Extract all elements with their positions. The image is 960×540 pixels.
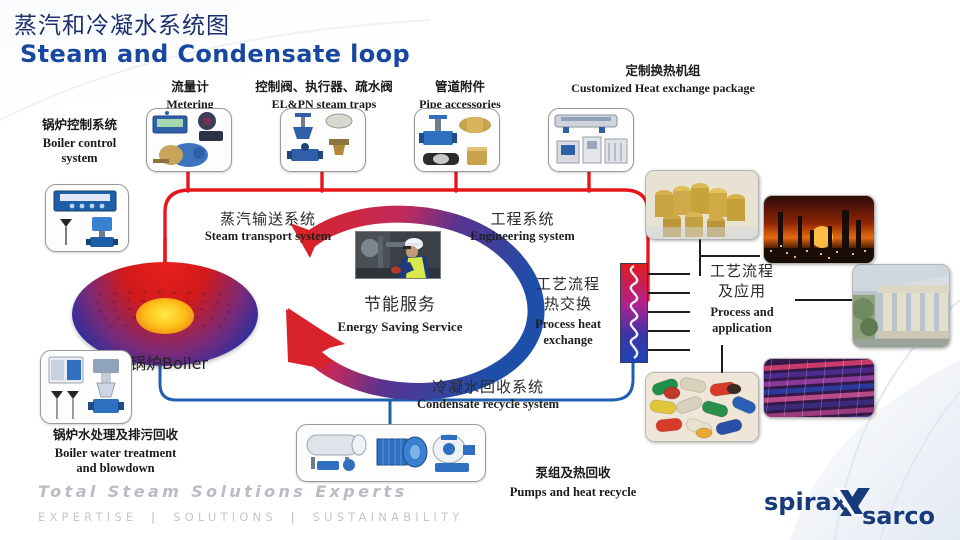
label-energy-saving-en: Energy Saving Service bbox=[310, 319, 490, 335]
label-pipe-accessories: 管道附件 Pipe accessories bbox=[400, 80, 520, 111]
label-process-heat-en1: Process heat bbox=[520, 317, 616, 332]
label-boiler-control-system: 锅炉控制系统 Boiler control system bbox=[22, 118, 137, 165]
institutional-building-photo bbox=[852, 264, 950, 348]
product-box-steam-traps[interactable] bbox=[280, 108, 366, 172]
label-boiler-water-en2: and blowdown bbox=[18, 461, 213, 476]
label-condensate-recycle-system: 冷凝水回收系统 Condensate recycle system bbox=[398, 378, 578, 413]
steam-trap-products-icon bbox=[281, 109, 365, 171]
footer-tagline: Total Steam Solutions Experts bbox=[38, 482, 408, 501]
product-box-boiler-control[interactable] bbox=[45, 184, 129, 252]
pipe-accessory-products-icon bbox=[415, 109, 499, 171]
engineer-at-work-photo bbox=[355, 231, 441, 279]
boiler-control-products-icon bbox=[46, 185, 128, 251]
metering-products-icon bbox=[147, 109, 231, 171]
footer-separator-1: | bbox=[145, 510, 165, 524]
label-engineering-system: 工程系统 Engineering system bbox=[440, 210, 605, 245]
footer-pillars: EXPERTISE | SOLUTIONS | SUSTAINABILITY bbox=[38, 510, 463, 524]
footer-separator-2: | bbox=[285, 510, 305, 524]
product-box-metering[interactable] bbox=[146, 108, 232, 172]
label-heat-exchange-package: 定制换热机组 Customized Heat exchange package bbox=[538, 64, 788, 95]
label-pipe-accessories-cn: 管道附件 bbox=[400, 80, 520, 95]
label-steam-transport-system: 蒸汽输送系统 Steam transport system bbox=[178, 210, 358, 245]
label-boiler-control-en2: system bbox=[22, 151, 137, 166]
label-boiler-water-treatment: 锅炉水处理及排污回收 Boiler water treatment and bl… bbox=[18, 428, 213, 475]
spirax-sarco-logo: spirax sarco bbox=[762, 486, 952, 534]
label-process-heat-cn2: 热交换 bbox=[520, 295, 616, 313]
label-metering-cn: 流量计 bbox=[148, 80, 232, 95]
label-boiler-water-en1: Boiler water treatment bbox=[18, 446, 213, 461]
label-boiler-control-en1: Boiler control bbox=[22, 136, 137, 151]
food-and-beverage-photo bbox=[645, 170, 759, 240]
label-pumps-cn: 泵组及热回收 bbox=[488, 466, 658, 481]
boiler-water-treatment-products-icon bbox=[41, 351, 131, 423]
label-steam-transport-cn: 蒸汽输送系统 bbox=[178, 210, 358, 228]
footer-pillar-solutions: SOLUTIONS bbox=[173, 510, 277, 524]
heat-exchanger-unit bbox=[620, 263, 648, 363]
product-box-boiler-water-treatment[interactable] bbox=[40, 350, 132, 424]
label-process-heat-en2: exchange bbox=[520, 333, 616, 348]
refinery-at-sunset-photo bbox=[763, 195, 875, 264]
label-process-app-cn1: 工艺流程 bbox=[690, 262, 794, 280]
label-process-app-en1: Process and bbox=[690, 305, 794, 320]
label-engineering-en: Engineering system bbox=[440, 229, 605, 244]
heat-exchange-package-products-icon bbox=[549, 109, 633, 171]
label-pumps-and-heat-recycle: 泵组及热回收 Pumps and heat recycle bbox=[488, 466, 658, 500]
label-engineering-cn: 工程系统 bbox=[440, 210, 605, 228]
label-heat-exchange-package-cn: 定制换热机组 bbox=[538, 64, 788, 79]
label-process-heat-cn1: 工艺流程 bbox=[520, 275, 616, 293]
logo-word-sarco: sarco bbox=[862, 502, 935, 530]
label-energy-saving-cn: 节能服务 bbox=[310, 295, 490, 316]
label-steam-traps-cn: 控制阀、执行器、疏水阀 bbox=[246, 80, 402, 95]
label-process-heat-exchange: 工艺流程 热交换 Process heat exchange bbox=[520, 275, 616, 348]
label-heat-exchange-package-en: Customized Heat exchange package bbox=[538, 81, 788, 95]
label-boiler-water-cn: 锅炉水处理及排污回收 bbox=[18, 428, 213, 443]
pharmaceutical-pills-photo bbox=[645, 372, 759, 442]
footer-pillar-sustainability: SUSTAINABILITY bbox=[313, 510, 464, 524]
boiler-flame bbox=[136, 298, 194, 334]
label-process-app-cn2: 及应用 bbox=[690, 282, 794, 300]
heat-exchanger-coil bbox=[621, 264, 647, 362]
label-energy-saving-service: 节能服务 Energy Saving Service bbox=[310, 295, 490, 335]
textile-fabric-photo bbox=[763, 358, 875, 418]
logo-word-spirax: spirax bbox=[764, 488, 848, 516]
product-box-pipe-accessories[interactable] bbox=[414, 108, 500, 172]
label-condensate-recycle-en: Condensate recycle system bbox=[398, 397, 578, 412]
label-boiler-control-cn: 锅炉控制系统 bbox=[22, 118, 137, 133]
label-process-app-en2: application bbox=[690, 321, 794, 336]
pump-heat-recycle-products-icon bbox=[297, 425, 485, 481]
label-condensate-recycle-cn: 冷凝水回收系统 bbox=[398, 378, 578, 396]
label-pumps-en: Pumps and heat recycle bbox=[488, 485, 658, 500]
label-boiler: 锅炉Boiler bbox=[130, 350, 208, 374]
label-metering: 流量计 Metering bbox=[148, 80, 232, 111]
product-box-heat-exchange-package[interactable] bbox=[548, 108, 634, 172]
product-box-pumps-heat-recycle[interactable] bbox=[296, 424, 486, 482]
label-steam-transport-en: Steam transport system bbox=[178, 229, 358, 244]
label-steam-traps: 控制阀、执行器、疏水阀 EL&PN steam traps bbox=[246, 80, 402, 111]
label-process-and-application: 工艺流程 及应用 Process and application bbox=[690, 262, 794, 336]
slide-canvas: 蒸汽和冷凝水系统图 Steam and Condensate loop bbox=[0, 0, 960, 540]
footer-pillar-expertise: EXPERTISE bbox=[38, 510, 137, 524]
